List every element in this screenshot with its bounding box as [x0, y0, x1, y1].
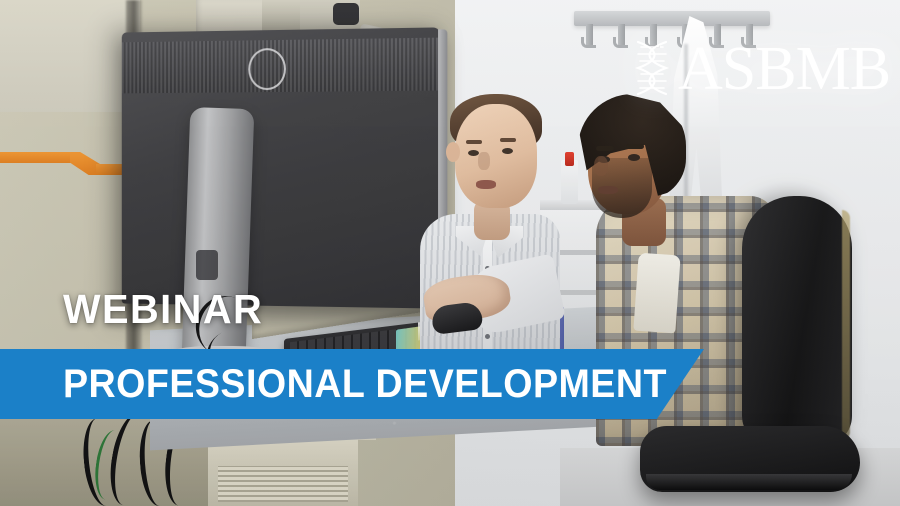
person-one-face — [455, 104, 537, 208]
person-two-eyebrow — [596, 146, 614, 151]
person-one-eyebrow — [466, 140, 482, 144]
shirt-button — [485, 334, 490, 339]
monitor-logo — [248, 48, 286, 90]
equipment-knob — [333, 3, 359, 25]
monitor-stand-notch — [196, 250, 218, 280]
person-two-eye — [628, 154, 640, 161]
person-two-undershirt — [633, 253, 680, 334]
drawer-handle — [556, 290, 598, 295]
reagent-bottle — [561, 160, 578, 204]
dna-helix-icon — [628, 38, 676, 102]
asbmb-logo: ASBMB — [628, 38, 890, 102]
person-one-eyebrow — [500, 138, 516, 142]
person-two-nose — [594, 156, 608, 176]
orange-wall-stripe — [0, 152, 74, 163]
person-two-mouth — [598, 186, 618, 194]
cabinet-vents — [218, 466, 348, 502]
coat-hook — [586, 24, 593, 48]
reagent-bottle-cap — [565, 152, 574, 166]
office-chair-trim — [842, 210, 850, 440]
person-one-eye — [502, 148, 513, 154]
person-one-eye — [468, 150, 479, 156]
webinar-promo-banner: ASBMB WEBINAR PROFESSIONAL DEVELOPMENT — [0, 0, 900, 506]
headline-label: PROFESSIONAL DEVELOPMENT — [63, 362, 667, 407]
coat-hook — [618, 24, 625, 48]
office-chair-seat-edge — [646, 474, 852, 490]
office-chair-back — [742, 196, 852, 446]
person-one-mouth — [476, 180, 496, 189]
drawer-handle — [556, 250, 598, 255]
person-one-nose — [478, 152, 490, 170]
coat-rack-bar — [574, 11, 770, 26]
person-two-eyebrow — [626, 144, 644, 149]
desktop-monitor — [122, 27, 440, 308]
asbmb-wordmark: ASBMB — [678, 41, 890, 98]
eyebrow-label: WEBINAR — [63, 286, 263, 333]
person-one-ear — [446, 142, 460, 162]
